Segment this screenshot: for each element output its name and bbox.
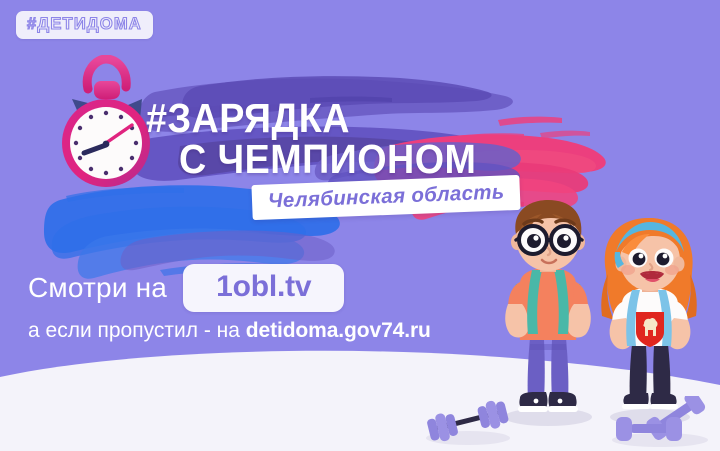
fallback-row: а если пропустил - на detidoma.gov74.ru — [28, 319, 431, 343]
title-block: #ЗАРЯДКА С ЧЕМПИОНОМ — [146, 99, 526, 180]
fallback-url[interactable]: detidoma.gov74.ru — [246, 319, 431, 342]
promo-poster: #ДЕТИДОМА — [0, 0, 720, 451]
hashtag-badge-label: #ДЕТИДОМА — [27, 16, 142, 33]
site-pill-label: 1obl.tv — [216, 271, 311, 303]
cta-row: Смотри на 1obl.tv — [28, 264, 344, 312]
site-pill[interactable]: 1obl.tv — [183, 264, 344, 312]
barbell-icon — [418, 398, 518, 446]
title-line-1: #ЗАРЯДКА — [146, 99, 496, 138]
title-line-2: С ЧЕМПИОНОМ — [179, 140, 498, 179]
cta-label: Смотри на — [28, 272, 167, 304]
hashtag-badge: #ДЕТИДОМА — [16, 11, 153, 39]
dumbbell-group — [604, 396, 716, 448]
region-ribbon-label: Челябинская область — [268, 180, 505, 213]
fallback-prefix: а если пропустил - на — [28, 319, 246, 342]
boy-character — [486, 198, 608, 430]
